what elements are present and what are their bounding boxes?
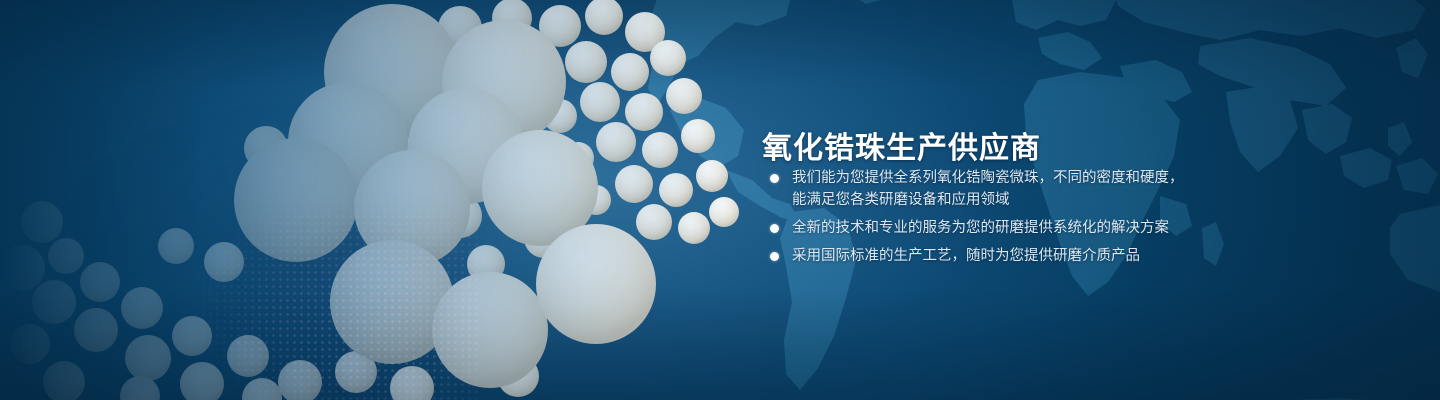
feature-list: 我们能为您提供全系列氧化锆陶瓷微珠，不同的密度和硬度， 能满足您各类研磨设备和应…	[764, 167, 1404, 267]
banner-title: 氧化锆珠生产供应商	[762, 130, 1041, 168]
banner-content: 氧化锆珠生产供应商 我们能为您提供全系列氧化锆陶瓷微珠，不同的密度和硬度， 能满…	[762, 0, 1422, 400]
bullet-dot-icon	[770, 224, 779, 233]
bullet-dot-icon	[770, 252, 779, 261]
feature-item-1: 我们能为您提供全系列氧化锆陶瓷微珠，不同的密度和硬度， 能满足您各类研磨设备和应…	[764, 167, 1404, 211]
feature-item-3-line-1: 采用国际标准的生产工艺，随时为您提供研磨介质产品	[792, 245, 1404, 267]
bullet-dot-icon	[770, 174, 779, 183]
feature-item-1-line-1: 我们能为您提供全系列氧化锆陶瓷微珠，不同的密度和硬度，	[792, 167, 1404, 189]
feature-item-1-line-2: 能满足您各类研磨设备和应用领域	[792, 189, 1404, 211]
feature-item-3: 采用国际标准的生产工艺，随时为您提供研磨介质产品	[764, 245, 1404, 267]
feature-item-2-line-1: 全新的技术和专业的服务为您的研磨提供系统化的解决方案	[792, 217, 1404, 239]
feature-item-2: 全新的技术和专业的服务为您的研磨提供系统化的解决方案	[764, 217, 1404, 239]
promo-banner: 氧化锆珠生产供应商 我们能为您提供全系列氧化锆陶瓷微珠，不同的密度和硬度， 能满…	[0, 0, 1440, 400]
